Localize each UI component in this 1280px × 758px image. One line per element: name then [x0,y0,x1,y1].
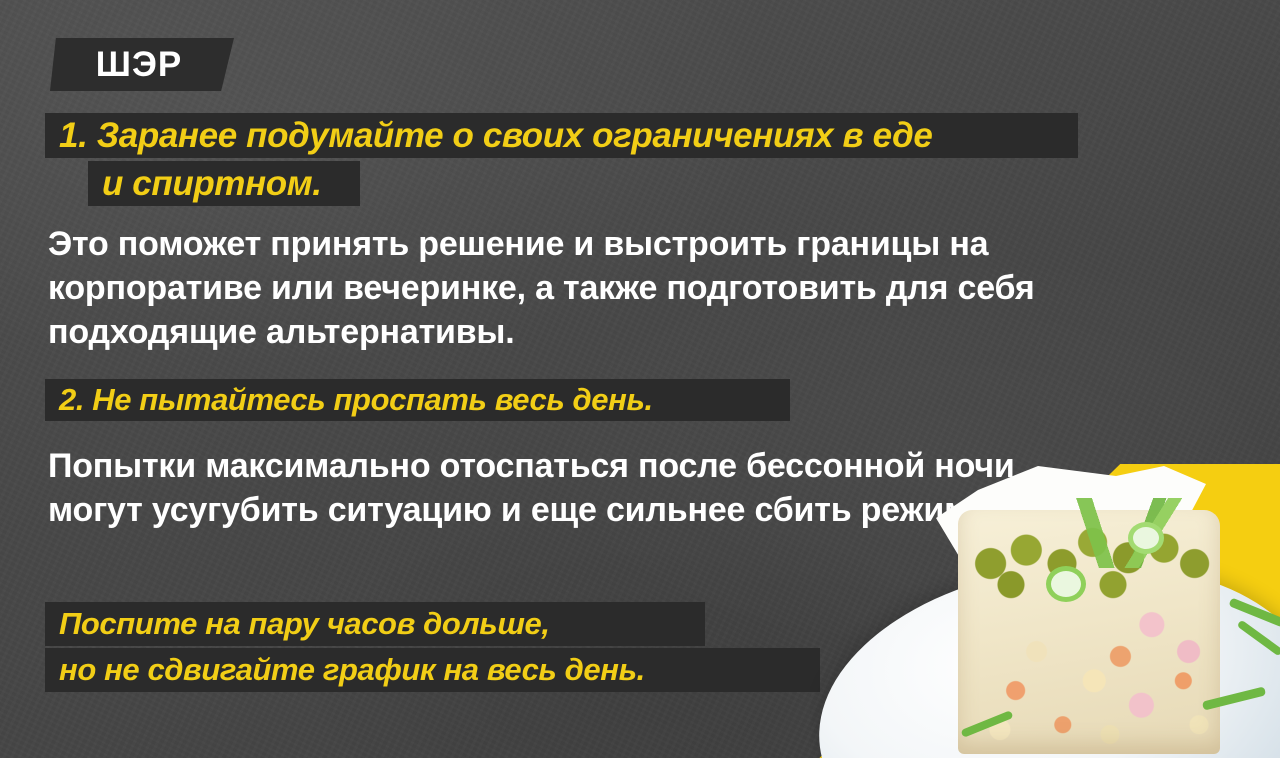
brand-logo-text: ШЭР [96,47,182,82]
closing-highlight-line-2: но не сдвигайте график на весь день. [45,648,820,692]
tip-1-heading-line-2: и спиртном. [88,161,360,206]
brand-logo-badge: ШЭР [50,38,234,91]
closing-highlight-line-1: Поспите на пару часов дольше, [45,602,705,646]
salad-photo [810,458,1280,758]
scallion-ring-icon [1046,566,1086,602]
scallion-garnish [978,498,1218,568]
tip-1-body-text: Это поможет принять решение и выстроить … [48,222,1078,354]
infographic-card: ШЭР 1. Заранее подумайте о своих огранич… [0,0,1280,758]
tip-1-heading-line-1: 1. Заранее подумайте о своих ограничения… [45,113,1078,158]
tip-2-heading-line-1: 2. Не пытайтесь проспать весь день. [45,379,790,421]
scallion-ring-icon [1128,522,1164,554]
